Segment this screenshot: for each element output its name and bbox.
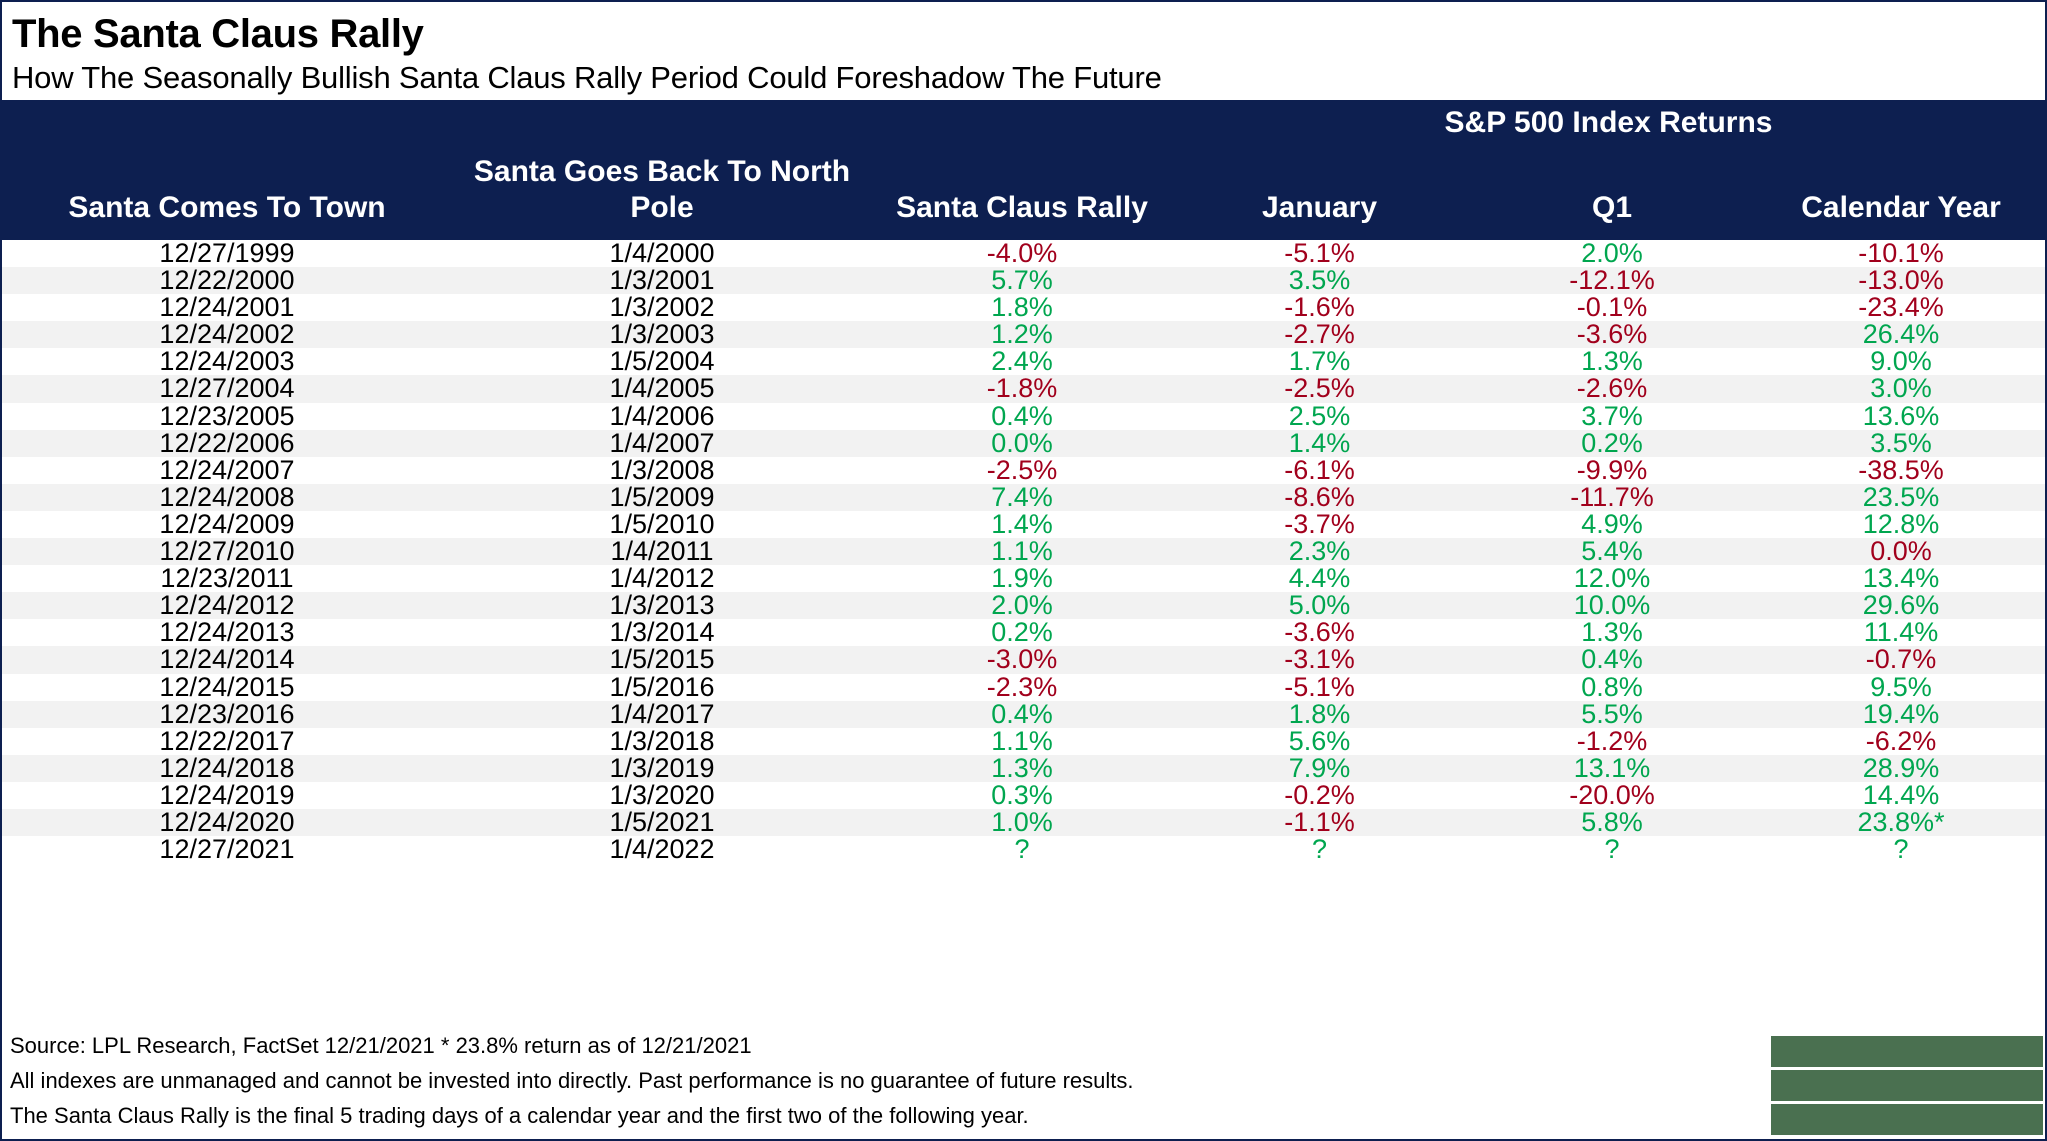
cell-santa-claus-rally: -2.5% bbox=[872, 457, 1172, 484]
cell-calendar-year: 19.4% bbox=[1757, 701, 2045, 728]
decorative-green-block bbox=[1771, 1036, 2043, 1067]
cell-january: 3.5% bbox=[1172, 267, 1467, 294]
title-block: The Santa Claus Rally How The Seasonally… bbox=[2, 2, 2045, 100]
cell-santa-goes-back-to-north-pole: 1/4/2007 bbox=[452, 430, 872, 457]
cell-calendar-year: 26.4% bbox=[1757, 321, 2045, 348]
cell-santa-goes-back-to-north-pole: 1/5/2021 bbox=[452, 809, 872, 836]
cell-january: 5.6% bbox=[1172, 728, 1467, 755]
cell-santa-goes-back-to-north-pole: 1/3/2014 bbox=[452, 619, 872, 646]
cell-santa-comes-to-town: 12/22/2006 bbox=[2, 430, 452, 457]
cell-santa-goes-back-to-north-pole: 1/5/2015 bbox=[452, 646, 872, 673]
table-row: 12/24/20121/3/20132.0%5.0%10.0%29.6% bbox=[2, 592, 2045, 619]
cell-santa-comes-to-town: 12/24/2008 bbox=[2, 484, 452, 511]
cell-calendar-year: 13.4% bbox=[1757, 565, 2045, 592]
cell-january: -1.6% bbox=[1172, 294, 1467, 321]
cell-q1: 0.8% bbox=[1467, 674, 1757, 701]
decorative-green-blocks bbox=[1771, 1036, 2043, 1135]
cell-santa-claus-rally: -4.0% bbox=[872, 240, 1172, 267]
table-body: 12/27/19991/4/2000-4.0%-5.1%2.0%-10.1%12… bbox=[2, 240, 2045, 863]
decorative-green-block bbox=[1771, 1070, 2043, 1101]
table-header: S&P 500 Index Returns Santa Comes To Tow… bbox=[2, 100, 2045, 240]
cell-santa-claus-rally: 1.3% bbox=[872, 755, 1172, 782]
cell-santa-claus-rally: 2.4% bbox=[872, 348, 1172, 375]
cell-calendar-year: ? bbox=[1757, 836, 2045, 863]
cell-january: -5.1% bbox=[1172, 240, 1467, 267]
table-header-group-row: S&P 500 Index Returns bbox=[2, 100, 2045, 148]
cell-santa-claus-rally: 1.1% bbox=[872, 728, 1172, 755]
table-row: 12/24/20201/5/20211.0%-1.1%5.8%23.8%* bbox=[2, 809, 2045, 836]
cell-santa-claus-rally: 7.4% bbox=[872, 484, 1172, 511]
cell-santa-comes-to-town: 12/24/2014 bbox=[2, 646, 452, 673]
cell-calendar-year: -13.0% bbox=[1757, 267, 2045, 294]
cell-santa-claus-rally: -3.0% bbox=[872, 646, 1172, 673]
cell-santa-goes-back-to-north-pole: 1/5/2004 bbox=[452, 348, 872, 375]
cell-santa-claus-rally: 2.0% bbox=[872, 592, 1172, 619]
cell-santa-comes-to-town: 12/24/2001 bbox=[2, 294, 452, 321]
cell-calendar-year: 23.8%* bbox=[1757, 809, 2045, 836]
cell-santa-comes-to-town: 12/22/2000 bbox=[2, 267, 452, 294]
cell-calendar-year: -38.5% bbox=[1757, 457, 2045, 484]
table-row: 12/23/20161/4/20170.4%1.8%5.5%19.4% bbox=[2, 701, 2045, 728]
header-spacer-rally bbox=[872, 100, 1172, 148]
cell-santa-comes-to-town: 12/22/2017 bbox=[2, 728, 452, 755]
cell-q1: -12.1% bbox=[1467, 267, 1757, 294]
cell-january: 1.8% bbox=[1172, 701, 1467, 728]
cell-january: ? bbox=[1172, 836, 1467, 863]
cell-calendar-year: 13.6% bbox=[1757, 403, 2045, 430]
cell-calendar-year: 11.4% bbox=[1757, 619, 2045, 646]
cell-santa-comes-to-town: 12/24/2009 bbox=[2, 511, 452, 538]
cell-january: -2.7% bbox=[1172, 321, 1467, 348]
table-row: 12/24/20131/3/20140.2%-3.6%1.3%11.4% bbox=[2, 619, 2045, 646]
cell-q1: 10.0% bbox=[1467, 592, 1757, 619]
cell-santa-goes-back-to-north-pole: 1/4/2005 bbox=[452, 375, 872, 402]
cell-january: 5.0% bbox=[1172, 592, 1467, 619]
table-row: 12/24/20081/5/20097.4%-8.6%-11.7%23.5% bbox=[2, 484, 2045, 511]
column-group-header-sp500: S&P 500 Index Returns bbox=[1172, 100, 2045, 148]
table-row: 12/24/20151/5/2016-2.3%-5.1%0.8%9.5% bbox=[2, 674, 2045, 701]
cell-santa-comes-to-town: 12/27/2004 bbox=[2, 375, 452, 402]
cell-santa-goes-back-to-north-pole: 1/3/2008 bbox=[452, 457, 872, 484]
cell-calendar-year: -0.7% bbox=[1757, 646, 2045, 673]
cell-q1: 0.2% bbox=[1467, 430, 1757, 457]
table-row: 12/24/20141/5/2015-3.0%-3.1%0.4%-0.7% bbox=[2, 646, 2045, 673]
cell-santa-goes-back-to-north-pole: 1/4/2006 bbox=[452, 403, 872, 430]
cell-january: 2.3% bbox=[1172, 538, 1467, 565]
column-header-santa-comes-to-town[interactable]: Santa Comes To Town bbox=[2, 148, 452, 240]
cell-santa-comes-to-town: 12/27/2021 bbox=[2, 836, 452, 863]
table-row: 12/24/20191/3/20200.3%-0.2%-20.0%14.4% bbox=[2, 782, 2045, 809]
cell-santa-goes-back-to-north-pole: 1/3/2002 bbox=[452, 294, 872, 321]
footnote-definition: The Santa Claus Rally is the final 5 tra… bbox=[10, 1098, 1410, 1133]
cell-santa-goes-back-to-north-pole: 1/4/2011 bbox=[452, 538, 872, 565]
table-row: 12/24/20011/3/20021.8%-1.6%-0.1%-23.4% bbox=[2, 294, 2045, 321]
cell-santa-claus-rally: 1.9% bbox=[872, 565, 1172, 592]
cell-santa-comes-to-town: 12/24/2007 bbox=[2, 457, 452, 484]
table-row: 12/23/20051/4/20060.4%2.5%3.7%13.6% bbox=[2, 403, 2045, 430]
cell-january: -3.1% bbox=[1172, 646, 1467, 673]
header-spacer-comes bbox=[2, 100, 452, 148]
cell-calendar-year: -10.1% bbox=[1757, 240, 2045, 267]
cell-calendar-year: 0.0% bbox=[1757, 538, 2045, 565]
cell-santa-comes-to-town: 12/24/2020 bbox=[2, 809, 452, 836]
cell-santa-goes-back-to-north-pole: 1/4/2017 bbox=[452, 701, 872, 728]
cell-santa-goes-back-to-north-pole: 1/3/2018 bbox=[452, 728, 872, 755]
cell-january: 1.7% bbox=[1172, 348, 1467, 375]
cell-calendar-year: -6.2% bbox=[1757, 728, 2045, 755]
decorative-green-block bbox=[1771, 1104, 2043, 1135]
table-row: 12/27/20041/4/2005-1.8%-2.5%-2.6%3.0% bbox=[2, 375, 2045, 402]
table-row: 12/27/19991/4/2000-4.0%-5.1%2.0%-10.1% bbox=[2, 240, 2045, 267]
cell-calendar-year: -23.4% bbox=[1757, 294, 2045, 321]
cell-q1: 0.4% bbox=[1467, 646, 1757, 673]
cell-santa-comes-to-town: 12/23/2005 bbox=[2, 403, 452, 430]
cell-calendar-year: 29.6% bbox=[1757, 592, 2045, 619]
table-row: 12/22/20001/3/20015.7%3.5%-12.1%-13.0% bbox=[2, 267, 2045, 294]
cell-q1: -20.0% bbox=[1467, 782, 1757, 809]
cell-santa-claus-rally: 1.2% bbox=[872, 321, 1172, 348]
cell-santa-goes-back-to-north-pole: 1/3/2001 bbox=[452, 267, 872, 294]
table-row: 12/27/20211/4/2022???? bbox=[2, 836, 2045, 863]
cell-santa-goes-back-to-north-pole: 1/3/2003 bbox=[452, 321, 872, 348]
table-row: 12/27/20101/4/20111.1%2.3%5.4%0.0% bbox=[2, 538, 2045, 565]
cell-january: -0.2% bbox=[1172, 782, 1467, 809]
footnotes-block: Source: LPL Research, FactSet 12/21/2021… bbox=[10, 1028, 1410, 1133]
cell-calendar-year: 12.8% bbox=[1757, 511, 2045, 538]
cell-santa-claus-rally: 0.0% bbox=[872, 430, 1172, 457]
cell-santa-claus-rally: 0.4% bbox=[872, 701, 1172, 728]
footnote-source: Source: LPL Research, FactSet 12/21/2021… bbox=[10, 1028, 1410, 1063]
cell-santa-goes-back-to-north-pole: 1/5/2010 bbox=[452, 511, 872, 538]
cell-q1: -9.9% bbox=[1467, 457, 1757, 484]
cell-q1: -2.6% bbox=[1467, 375, 1757, 402]
cell-santa-comes-to-town: 12/24/2002 bbox=[2, 321, 452, 348]
table-row: 12/24/20091/5/20101.4%-3.7%4.9%12.8% bbox=[2, 511, 2045, 538]
cell-santa-claus-rally: 5.7% bbox=[872, 267, 1172, 294]
cell-calendar-year: 9.0% bbox=[1757, 348, 2045, 375]
cell-santa-claus-rally: 1.4% bbox=[872, 511, 1172, 538]
cell-santa-goes-back-to-north-pole: 1/5/2016 bbox=[452, 674, 872, 701]
column-header-santa-claus-rally[interactable]: Santa Claus Rally bbox=[872, 148, 1172, 240]
cell-q1: 13.1% bbox=[1467, 755, 1757, 782]
cell-calendar-year: 9.5% bbox=[1757, 674, 2045, 701]
cell-santa-goes-back-to-north-pole: 1/5/2009 bbox=[452, 484, 872, 511]
cell-q1: ? bbox=[1467, 836, 1757, 863]
cell-q1: -3.6% bbox=[1467, 321, 1757, 348]
cell-q1: 1.3% bbox=[1467, 619, 1757, 646]
cell-santa-comes-to-town: 12/24/2003 bbox=[2, 348, 452, 375]
cell-santa-claus-rally: 0.3% bbox=[872, 782, 1172, 809]
cell-january: 2.5% bbox=[1172, 403, 1467, 430]
cell-q1: 12.0% bbox=[1467, 565, 1757, 592]
cell-santa-claus-rally: 1.1% bbox=[872, 538, 1172, 565]
table-header-column-row: Santa Comes To Town Santa Goes Back To N… bbox=[2, 148, 2045, 240]
cell-calendar-year: 14.4% bbox=[1757, 782, 2045, 809]
cell-santa-comes-to-town: 12/27/2010 bbox=[2, 538, 452, 565]
cell-calendar-year: 3.5% bbox=[1757, 430, 2045, 457]
cell-calendar-year: 28.9% bbox=[1757, 755, 2045, 782]
cell-january: 4.4% bbox=[1172, 565, 1467, 592]
cell-santa-comes-to-town: 12/24/2012 bbox=[2, 592, 452, 619]
cell-santa-goes-back-to-north-pole: 1/3/2020 bbox=[452, 782, 872, 809]
column-header-santa-goes-back-to-north-pole[interactable]: Santa Goes Back To North Pole bbox=[452, 148, 872, 240]
santa-claus-rally-infographic: The Santa Claus Rally How The Seasonally… bbox=[0, 0, 2047, 1141]
cell-q1: -0.1% bbox=[1467, 294, 1757, 321]
cell-q1: -11.7% bbox=[1467, 484, 1757, 511]
cell-santa-comes-to-town: 12/23/2016 bbox=[2, 701, 452, 728]
cell-q1: 5.8% bbox=[1467, 809, 1757, 836]
cell-january: -8.6% bbox=[1172, 484, 1467, 511]
cell-santa-claus-rally: -1.8% bbox=[872, 375, 1172, 402]
cell-santa-claus-rally: 0.2% bbox=[872, 619, 1172, 646]
table-row: 12/24/20031/5/20042.4%1.7%1.3%9.0% bbox=[2, 348, 2045, 375]
cell-q1: 5.5% bbox=[1467, 701, 1757, 728]
table-row: 12/22/20171/3/20181.1%5.6%-1.2%-6.2% bbox=[2, 728, 2045, 755]
cell-january: -6.1% bbox=[1172, 457, 1467, 484]
cell-santa-claus-rally: ? bbox=[872, 836, 1172, 863]
santa-rally-table: S&P 500 Index Returns Santa Comes To Tow… bbox=[2, 100, 2045, 863]
column-header-calendar-year[interactable]: Calendar Year bbox=[1757, 148, 2045, 240]
header-spacer-back bbox=[452, 100, 872, 148]
cell-santa-comes-to-town: 12/24/2013 bbox=[2, 619, 452, 646]
cell-santa-comes-to-town: 12/24/2015 bbox=[2, 674, 452, 701]
footnote-disclaimer: All indexes are unmanaged and cannot be … bbox=[10, 1063, 1410, 1098]
cell-january: -2.5% bbox=[1172, 375, 1467, 402]
cell-january: -3.6% bbox=[1172, 619, 1467, 646]
cell-q1: 2.0% bbox=[1467, 240, 1757, 267]
cell-calendar-year: 3.0% bbox=[1757, 375, 2045, 402]
cell-santa-comes-to-town: 12/24/2019 bbox=[2, 782, 452, 809]
cell-january: 7.9% bbox=[1172, 755, 1467, 782]
table-row: 12/23/20111/4/20121.9%4.4%12.0%13.4% bbox=[2, 565, 2045, 592]
cell-q1: 4.9% bbox=[1467, 511, 1757, 538]
cell-santa-goes-back-to-north-pole: 1/4/2012 bbox=[452, 565, 872, 592]
page-title: The Santa Claus Rally bbox=[12, 10, 2045, 58]
cell-santa-claus-rally: -2.3% bbox=[872, 674, 1172, 701]
table-row: 12/24/20021/3/20031.2%-2.7%-3.6%26.4% bbox=[2, 321, 2045, 348]
table-row: 12/24/20071/3/2008-2.5%-6.1%-9.9%-38.5% bbox=[2, 457, 2045, 484]
cell-santa-goes-back-to-north-pole: 1/4/2022 bbox=[452, 836, 872, 863]
cell-santa-goes-back-to-north-pole: 1/4/2000 bbox=[452, 240, 872, 267]
cell-january: 1.4% bbox=[1172, 430, 1467, 457]
cell-january: -1.1% bbox=[1172, 809, 1467, 836]
cell-santa-comes-to-town: 12/23/2011 bbox=[2, 565, 452, 592]
cell-santa-claus-rally: 0.4% bbox=[872, 403, 1172, 430]
table-row: 12/24/20181/3/20191.3%7.9%13.1%28.9% bbox=[2, 755, 2045, 782]
cell-santa-claus-rally: 1.0% bbox=[872, 809, 1172, 836]
cell-january: -3.7% bbox=[1172, 511, 1467, 538]
cell-calendar-year: 23.5% bbox=[1757, 484, 2045, 511]
cell-q1: -1.2% bbox=[1467, 728, 1757, 755]
cell-january: -5.1% bbox=[1172, 674, 1467, 701]
cell-santa-goes-back-to-north-pole: 1/3/2013 bbox=[452, 592, 872, 619]
column-header-january[interactable]: January bbox=[1172, 148, 1467, 240]
cell-santa-comes-to-town: 12/24/2018 bbox=[2, 755, 452, 782]
cell-q1: 5.4% bbox=[1467, 538, 1757, 565]
cell-q1: 1.3% bbox=[1467, 348, 1757, 375]
cell-santa-comes-to-town: 12/27/1999 bbox=[2, 240, 452, 267]
cell-q1: 3.7% bbox=[1467, 403, 1757, 430]
column-header-q1[interactable]: Q1 bbox=[1467, 148, 1757, 240]
cell-santa-goes-back-to-north-pole: 1/3/2019 bbox=[452, 755, 872, 782]
page-subtitle: How The Seasonally Bullish Santa Claus R… bbox=[12, 58, 2045, 98]
cell-santa-claus-rally: 1.8% bbox=[872, 294, 1172, 321]
table-row: 12/22/20061/4/20070.0%1.4%0.2%3.5% bbox=[2, 430, 2045, 457]
